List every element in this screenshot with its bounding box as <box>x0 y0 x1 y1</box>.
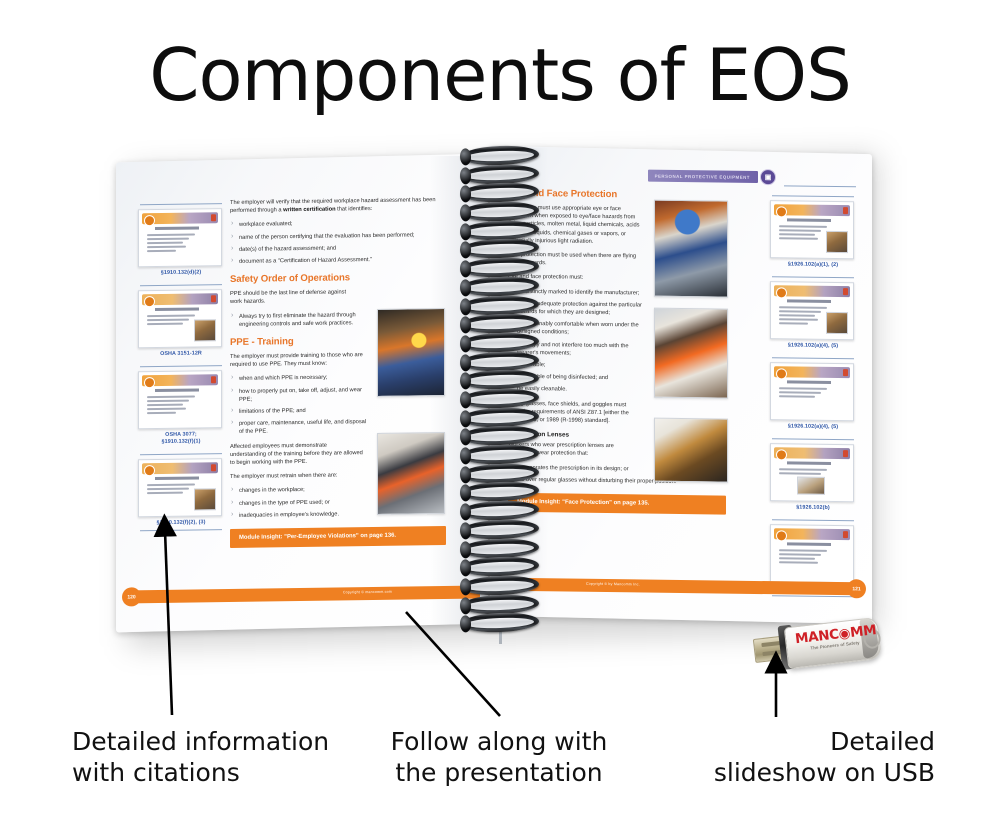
callout-caption-right: Detailed slideshow on USB <box>700 726 935 788</box>
thumbnail-flag-icon <box>211 464 216 471</box>
thumbnail-text-lines <box>779 225 827 242</box>
footer-copyright: Copyright © mancomm.com <box>343 590 392 595</box>
left-page: §1910.132(d)(2) OSHA 3151-12R <box>116 154 488 633</box>
thumbnail-heading <box>155 388 199 392</box>
thumbnail-text-lines <box>779 468 827 477</box>
slide-thumbnail[interactable] <box>138 370 222 429</box>
binding-coil <box>461 556 540 578</box>
citation-label: §1926.102(a)(1), (2) <box>770 258 856 272</box>
rail-divider <box>772 195 854 197</box>
bullet-list: Always try to first eliminate the hazard… <box>230 311 362 329</box>
rail-divider <box>140 284 222 286</box>
thumbnail-text-lines <box>147 233 195 254</box>
rail-item[interactable]: OSHA 3151-12R <box>138 284 224 361</box>
binding-coil <box>461 406 540 428</box>
binding-coil <box>461 257 540 279</box>
thumbnail-text-lines <box>779 549 827 566</box>
thumbnail-text-lines <box>779 306 827 327</box>
bullet-item: workplace evaluated; <box>230 218 446 229</box>
bullet-item: changes in the type of PPE used; or <box>230 498 370 508</box>
binding-coil <box>461 574 540 596</box>
bullet-item: proper care, maintenance, useful life, a… <box>230 418 372 436</box>
thumbnail-flag-icon <box>843 531 848 538</box>
bullet-item: limitations of the PPE; and <box>230 406 372 416</box>
rail-item[interactable]: §1926.102(a)(4), (5) <box>770 357 856 434</box>
thumbnail-flag-icon <box>843 288 848 295</box>
rail-item[interactable]: §1910.132(f)(2), (3) <box>138 453 224 531</box>
citation-label: OSHA 3077; §1910.132(f)(1) <box>138 428 224 449</box>
safety-badge-icon <box>776 287 787 298</box>
bullet-list: changes in the workplace; changes in the… <box>230 486 370 521</box>
rail-divider <box>784 185 856 187</box>
binding-coil <box>461 331 540 353</box>
bullet-item: name of the person certifying that the e… <box>230 231 446 242</box>
binding-coil <box>461 425 540 447</box>
bullet-item: date(s) of the hazard assessment; and <box>230 243 446 254</box>
worker-in-safety-vest-photo <box>654 308 728 399</box>
slide-thumbnail[interactable] <box>770 281 854 340</box>
rail-item[interactable]: §1926.102(b) <box>770 438 856 515</box>
slide-thumbnail[interactable] <box>138 289 222 348</box>
footer-bar <box>132 586 480 604</box>
rail-item[interactable]: OSHA 3077; §1910.132(f)(1) <box>138 365 224 449</box>
safety-badge-icon <box>144 215 155 226</box>
thumbnail-flag-icon <box>843 450 848 457</box>
thumbnail-text-lines <box>147 395 195 416</box>
bullet-list: workplace evaluated; name of the person … <box>230 218 446 266</box>
binding-coil <box>461 444 540 466</box>
thumbnail-heading <box>155 226 199 230</box>
welding-face-shield-photo <box>654 418 728 483</box>
left-page-citation-rail: §1910.132(d)(2) OSHA 3151-12R <box>138 203 224 536</box>
spiral-binding <box>461 146 545 644</box>
safety-badge-icon <box>776 206 787 217</box>
slide-thumbnail[interactable] <box>770 362 854 421</box>
thumbnail-heading <box>155 476 199 480</box>
rail-divider <box>140 453 222 455</box>
right-page: PERSONAL PROTECTIVE EQUIPMENT ▣ <box>490 146 872 624</box>
binding-coil <box>461 537 540 559</box>
thumbnail-heading <box>787 461 831 465</box>
thumbnail-text-lines <box>147 483 195 496</box>
thumbnail-heading <box>787 380 831 384</box>
right-page-citation-rail: §1926.102(a)(1), (2) §1926.102(a)(4), (5… <box>770 195 856 602</box>
page-number: 121 <box>847 579 866 598</box>
rail-divider <box>772 276 854 278</box>
citation-label: §1910.132(f)(2), (3) <box>138 516 224 530</box>
module-insight-bar[interactable]: Module Insight: "Per-Employee Violations… <box>230 526 446 548</box>
rail-divider <box>772 438 854 440</box>
safety-badge-icon <box>776 449 787 460</box>
thumbnail-flag-icon <box>211 376 216 383</box>
rail-item[interactable]: §1926.102(a)(1), (2) <box>770 195 856 272</box>
binding-coil <box>461 369 540 391</box>
left-page-body: The employer will verify that the requir… <box>230 196 446 548</box>
binding-coil <box>461 481 540 503</box>
bullet-item: how to properly put on, take off, adjust… <box>230 386 372 404</box>
thumbnail-text-lines <box>779 387 827 400</box>
rail-divider <box>140 529 222 531</box>
slide-thumbnail[interactable] <box>770 524 854 583</box>
grinding-sparks-photo <box>654 200 728 298</box>
slide-thumbnail[interactable] <box>138 458 222 517</box>
binding-coil <box>461 163 540 185</box>
safety-badge-icon <box>144 377 155 388</box>
bullet-item: inadequacies in employee's knowledge. <box>230 510 370 520</box>
footer-copyright: Copyright © by Mancomm Inc. <box>586 582 640 587</box>
binding-coil <box>461 462 540 484</box>
thumbnail-photo <box>194 488 216 510</box>
right-page-header-chip: PERSONAL PROTECTIVE EQUIPMENT ▣ <box>648 168 776 186</box>
bullet-item: when and which PPE is necessary; <box>230 373 372 383</box>
rail-divider <box>772 519 854 521</box>
citation-label: §1926.102(a)(4), (5) <box>770 420 856 434</box>
callout-caption-left: Detailed information with citations <box>72 726 352 788</box>
paragraph: Affected employees must demonstrate unde… <box>230 441 364 467</box>
thumbnail-flag-icon <box>211 295 216 302</box>
thumbnail-photo <box>797 477 825 495</box>
electrician-in-hard-hat-photo <box>377 308 445 397</box>
binding-coil <box>461 313 540 335</box>
binding-coil <box>461 518 540 540</box>
thumbnail-photo <box>194 319 216 341</box>
citation-label: §1926.102(b) <box>770 501 856 515</box>
rail-item[interactable]: §1926.102(a)(4), (5) <box>770 276 856 353</box>
thumbnail-photo <box>826 312 848 334</box>
binding-coil <box>461 238 540 260</box>
thumbnail-flag-icon <box>843 369 848 376</box>
safety-badge-icon <box>776 368 787 379</box>
spiral-bound-book: §1910.132(d)(2) OSHA 3151-12R <box>110 140 900 650</box>
page-title: Components of EOS <box>0 34 1000 116</box>
safety-badge-icon <box>144 296 155 307</box>
binding-coil <box>461 275 540 297</box>
thumbnail-heading <box>787 299 831 303</box>
thumbnail-flag-icon <box>211 214 216 221</box>
section-heading: Safety Order of Operations <box>230 271 446 286</box>
thumbnail-photo <box>826 231 848 253</box>
paragraph: The employer will verify that the requir… <box>230 196 446 215</box>
binding-coil <box>461 612 540 634</box>
rail-item[interactable]: §1910.132(d)(2) <box>138 203 224 280</box>
citation-label: OSHA 3151-12R <box>138 347 224 361</box>
header-chip-label: PERSONAL PROTECTIVE EQUIPMENT <box>648 170 758 183</box>
thumbnail-heading <box>155 307 199 311</box>
rail-divider <box>140 365 222 367</box>
safety-badge-icon <box>776 530 787 541</box>
paragraph: The employer must retrain when there are… <box>230 471 364 481</box>
binding-coil <box>461 388 540 410</box>
binding-coil <box>461 182 540 204</box>
safety-badge-icon <box>144 465 155 476</box>
slide-thumbnail[interactable] <box>770 200 854 259</box>
thumbnail-text-lines <box>147 314 195 327</box>
paragraph: The employer must provide training to th… <box>230 351 370 369</box>
thumbnail-flag-icon <box>843 207 848 214</box>
worker-kneeling-with-tool-photo <box>377 432 445 515</box>
binding-coil <box>461 219 540 241</box>
bullet-list: when and which PPE is necessary; how to … <box>230 373 372 436</box>
binding-coil <box>461 145 540 167</box>
binding-coil <box>461 201 540 223</box>
rail-divider <box>772 357 854 359</box>
citation-label: §1910.132(d)(2) <box>138 266 224 280</box>
citation-label: §1926.102(a)(4), (5) <box>770 339 856 353</box>
binding-coil <box>461 350 540 372</box>
bullet-item: document as a "Certification of Hazard A… <box>230 255 446 266</box>
page-number: 120 <box>122 587 141 606</box>
slide-thumbnail[interactable] <box>770 443 854 502</box>
binding-coil <box>461 593 540 615</box>
callout-caption-center: Follow along with the presentation <box>383 726 615 788</box>
rail-divider <box>140 203 222 205</box>
paragraph: PPE should be the last line of defense a… <box>230 288 358 306</box>
thumbnail-heading <box>787 218 831 222</box>
binding-coil <box>461 294 540 316</box>
thumbnail-heading <box>787 542 831 546</box>
bullet-item: Always try to first eliminate the hazard… <box>230 311 362 329</box>
binding-coil <box>461 500 540 522</box>
bullet-item: changes in the workplace; <box>230 486 370 496</box>
slide-thumbnail[interactable] <box>138 208 222 267</box>
hard-hat-badge-icon: ▣ <box>760 169 776 185</box>
